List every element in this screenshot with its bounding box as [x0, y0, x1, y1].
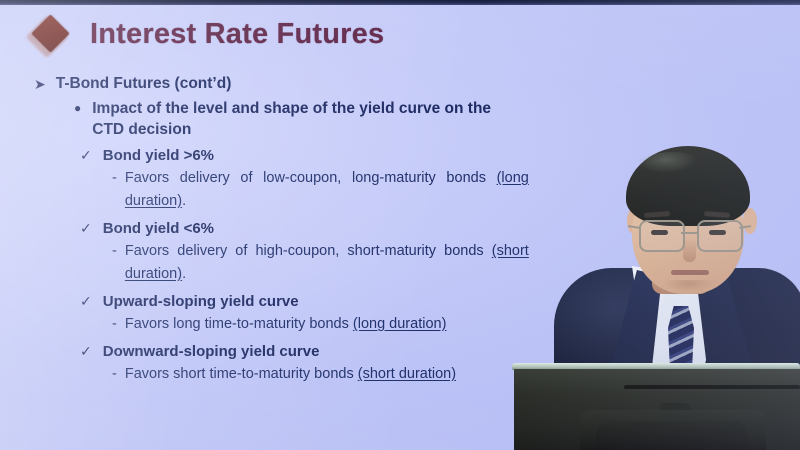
monitor-stand-base [596, 421, 748, 450]
bullet-downward-sloping-curve: ✓ Downward-sloping yield curve [80, 341, 540, 362]
detail-upward-sloping-curve: - Favors long time-to-maturity bonds (lo… [112, 313, 540, 336]
bullet-bond-yield-below-6-label: Bond yield <6% [103, 218, 214, 239]
detail-upward-sloping-curve-text: Favors long time-to-maturity bonds (long… [125, 313, 447, 336]
bullet-tbond-futures-label: T-Bond Futures (cont’d) [56, 74, 232, 94]
detail-4-pre: Favors short time-to-maturity bonds [125, 366, 358, 382]
monitor-vent-slot [624, 385, 800, 389]
detail-downward-sloping-curve: - Favors short time-to-maturity bonds (s… [112, 363, 540, 386]
arrow-bullet-icon: ➤ [34, 74, 46, 94]
check-bullet-icon: ✓ [80, 145, 92, 165]
slide-body: ➤ T-Bond Futures (cont’d) ● Impact of th… [0, 74, 540, 386]
video-top-letterbox-bar [0, 0, 800, 5]
speaker-chin-shadow [656, 280, 722, 296]
bullet-impact-ctd: ● Impact of the level and shape of the y… [74, 98, 540, 140]
slide-title: Interest Rate Futures [90, 18, 384, 51]
check-bullet-icon: ✓ [80, 291, 92, 311]
dash-bullet-icon: - [112, 240, 117, 263]
detail-1-pre: Favors delivery of low-coupon, long-matu… [125, 170, 497, 186]
detail-3-underlined: (long duration) [353, 316, 447, 332]
check-bullet-icon: ✓ [80, 341, 92, 361]
detail-downward-sloping-curve-text: Favors short time-to-maturity bonds (sho… [125, 363, 456, 386]
detail-bond-yield-above-6: - Favors delivery of low-coupon, long-ma… [112, 167, 540, 213]
speaker-mouth [671, 270, 709, 275]
bullet-tbond-futures: ➤ T-Bond Futures (cont’d) [34, 74, 540, 94]
detail-2-pre: Favors delivery of high-coupon, short-ma… [125, 243, 492, 259]
glasses-lens-left [639, 220, 685, 252]
bullet-upward-sloping-curve: ✓ Upward-sloping yield curve [80, 291, 540, 312]
bullet-upward-sloping-curve-label: Upward-sloping yield curve [103, 291, 299, 312]
detail-bond-yield-below-6: - Favors delivery of high-coupon, short-… [112, 240, 540, 286]
bullet-impact-ctd-label: Impact of the level and shape of the yie… [92, 98, 512, 140]
detail-bond-yield-below-6-text: Favors delivery of high-coupon, short-ma… [125, 240, 529, 286]
round-bullet-icon: ● [74, 98, 81, 119]
detail-bond-yield-above-6-text: Favors delivery of low-coupon, long-matu… [125, 167, 529, 213]
dash-bullet-icon: - [112, 313, 117, 336]
detail-4-underlined: (short duration) [358, 366, 456, 382]
computer-monitor-rear [512, 363, 800, 450]
dash-bullet-icon: - [112, 167, 117, 190]
glasses-bridge [681, 232, 697, 234]
detail-3-pre: Favors long time-to-maturity bonds [125, 316, 353, 332]
detail-1-post: . [182, 193, 186, 209]
bullet-bond-yield-above-6: ✓ Bond yield >6% [80, 145, 540, 166]
check-bullet-icon: ✓ [80, 218, 92, 238]
bullet-bond-yield-above-6-label: Bond yield >6% [103, 145, 214, 166]
glasses-lens-right [697, 220, 743, 252]
dash-bullet-icon: - [112, 363, 117, 386]
speaker-ear-right [743, 208, 757, 234]
detail-2-post: . [182, 266, 186, 282]
slide-title-text: Interest Rate Futures [90, 18, 384, 50]
bullet-bond-yield-below-6: ✓ Bond yield <6% [80, 218, 540, 239]
slide-title-row: Interest Rate Futures [28, 14, 548, 62]
speaker-nose [683, 238, 696, 262]
bullet-downward-sloping-curve-label: Downward-sloping yield curve [103, 341, 320, 362]
lecture-video-frame: Interest Rate Futures ➤ T-Bond Futures (… [0, 0, 800, 450]
